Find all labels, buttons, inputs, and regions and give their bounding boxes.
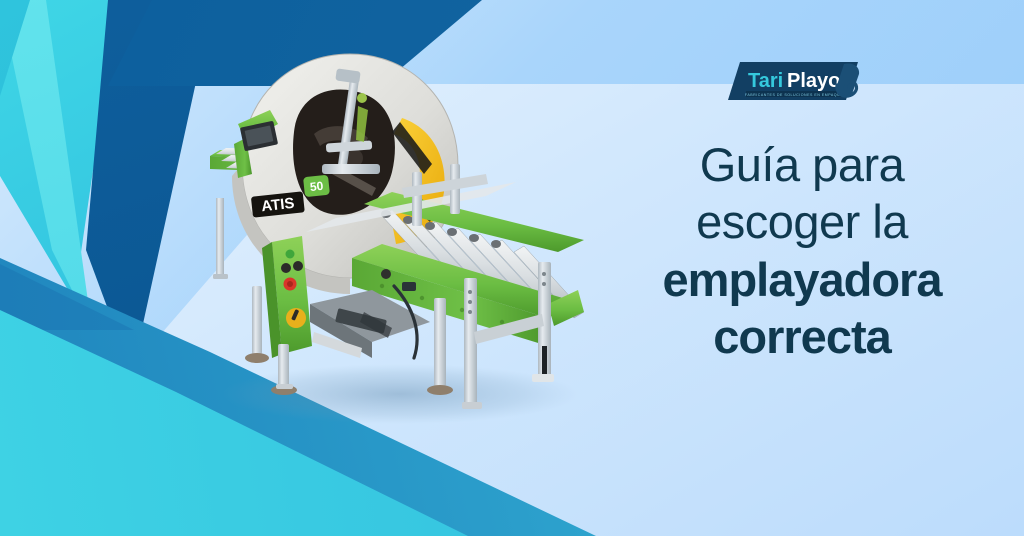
headline-line-3: emplayadora [598, 251, 1006, 308]
headline-line-2: escoger la [598, 193, 1006, 250]
headline-line-4: correcta [598, 308, 1006, 365]
company-logo[interactable]: Tari Playo FABRICANTES DE SOLUCIONES EN … [726, 56, 876, 108]
push-button-black-1 [281, 263, 291, 273]
stretch-wrapper-machine-image: ATIS 50 [186, 46, 606, 432]
marketing-banner: ATIS 50 [0, 0, 1024, 536]
model-badge-text: 50 [309, 179, 324, 194]
page-title: Guía para escoger la emplayadora correct… [598, 136, 1006, 365]
logo-tagline: FABRICANTES DE SOLUCIONES EN EMPAQUE [745, 93, 843, 97]
leg-right-front [464, 278, 477, 406]
logo-word-tari: Tari [748, 70, 783, 92]
model-badge: 50 [303, 175, 330, 198]
push-button-black-2 [293, 261, 303, 271]
headline-line-1: Guía para [598, 136, 1006, 193]
machine-shadow [222, 364, 578, 424]
brand-label-text: ATIS [261, 195, 296, 215]
logo-word-playo: Playo [787, 70, 840, 92]
indicator-light-green [286, 250, 295, 259]
